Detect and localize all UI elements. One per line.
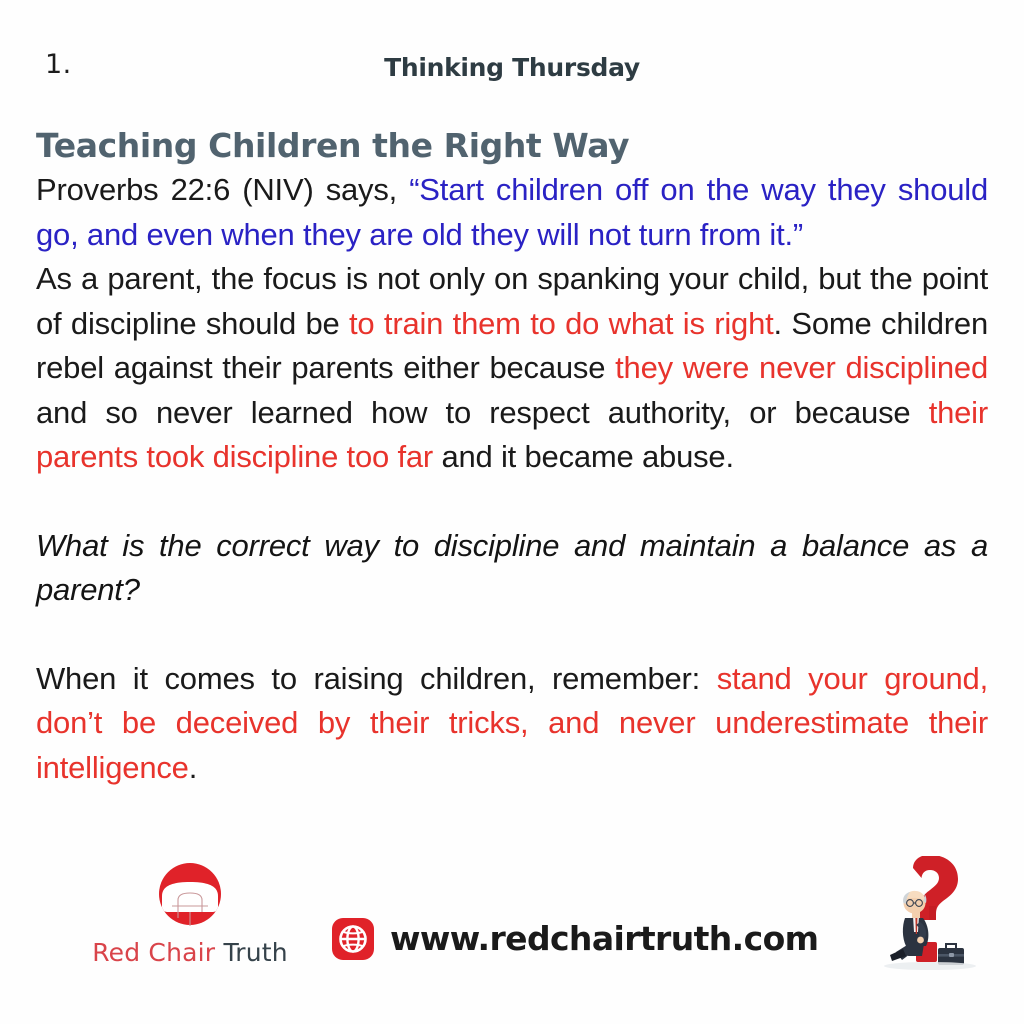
- slide-page: 1. Thinking Thursday Teaching Children t…: [0, 0, 1024, 1024]
- paragraph-spacer-2: [36, 613, 988, 657]
- globe-icon: [332, 918, 374, 960]
- question-mark-businessman-illustration-icon: [850, 856, 1000, 976]
- paragraph-spacer-1: [36, 480, 988, 524]
- brand-name-dark: Truth: [223, 938, 287, 967]
- page-title: Teaching Children the Right Way: [36, 125, 988, 167]
- brand-name-red: Red Chair: [92, 938, 215, 967]
- scripture-paragraph: Proverbs 22:6 (NIV) says, “Start childre…: [36, 168, 988, 257]
- closing-paragraph: When it comes to raising children, remem…: [36, 657, 988, 791]
- slide-header: 1. Thinking Thursday: [0, 48, 1024, 92]
- website-url: www.redchairtruth.com: [390, 919, 818, 959]
- closing-text-part-1: When it comes to raising children, remem…: [36, 661, 717, 696]
- brand-name: Red Chair Truth: [60, 938, 320, 968]
- brand-logo: Red Chair Truth: [60, 862, 320, 968]
- discipline-paragraph: As a parent, the focus is not only on sp…: [36, 257, 988, 480]
- discipline-highlight-2: they were never disciplined: [615, 350, 988, 385]
- discipline-highlight-1: to train them to do what is right: [349, 306, 774, 341]
- closing-text-part-2: .: [189, 750, 197, 785]
- scripture-lead-text: Proverbs 22:6 (NIV) says,: [36, 172, 409, 207]
- reflection-question: What is the correct way to discipline an…: [36, 524, 988, 613]
- discipline-text-part-3: and so never learned how to respect auth…: [36, 395, 929, 430]
- website-link[interactable]: www.redchairtruth.com: [332, 918, 818, 960]
- discipline-text-part-4: and it became abuse.: [433, 439, 734, 474]
- red-chair-circle-logo-icon: [148, 862, 232, 936]
- slide-content: Teaching Children the Right Way Proverbs…: [36, 125, 988, 790]
- slide-footer: Red Chair Truth www.redchairtruth.com: [0, 874, 1024, 1006]
- series-title: Thinking Thursday: [0, 52, 1024, 84]
